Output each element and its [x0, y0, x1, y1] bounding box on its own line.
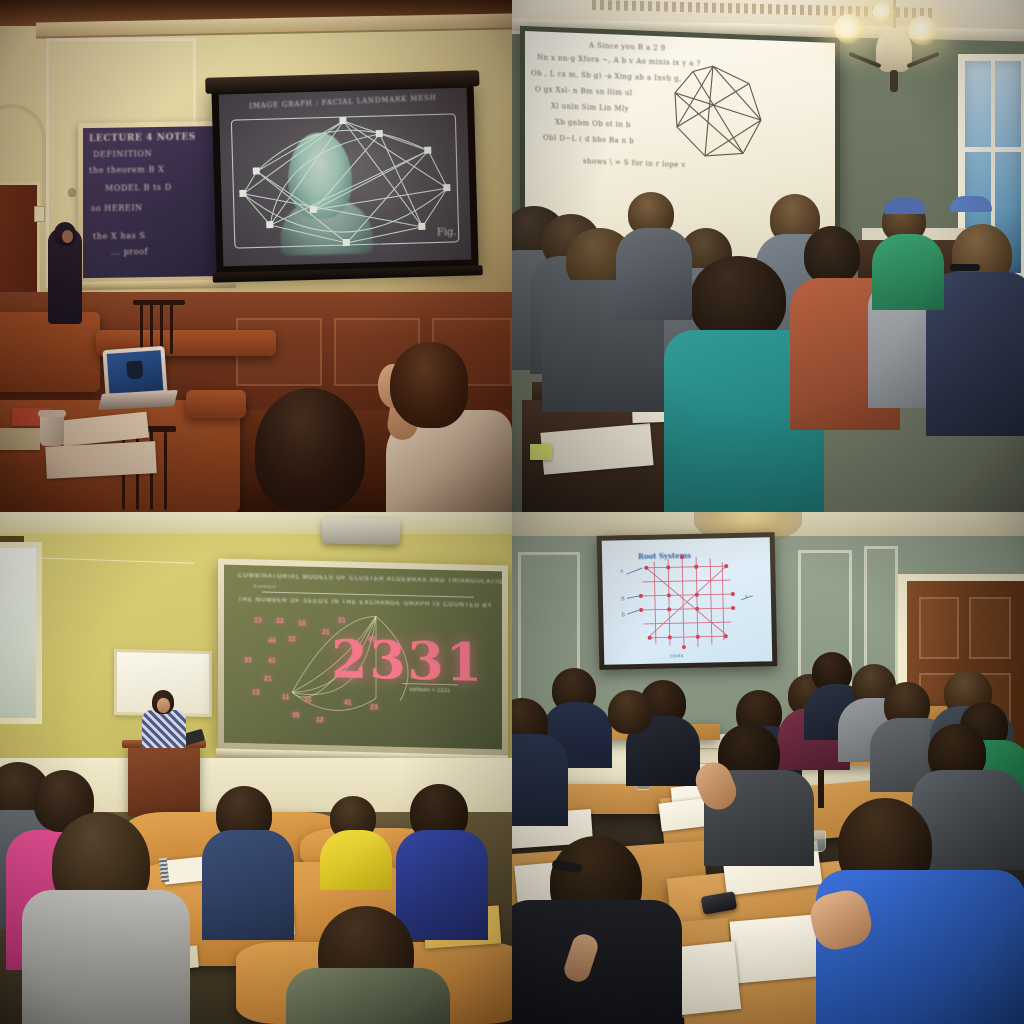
- laptop-screen: [107, 350, 164, 394]
- panel-bottom-left[interactable]: COMBINATORIAL MODELS OF CLUSTER ALGEBRAS…: [0, 512, 512, 1024]
- student-head-center: [255, 388, 365, 512]
- chalk-line-2: the theorem B X: [89, 165, 164, 175]
- node-label: 21: [264, 676, 272, 683]
- node-label: 22: [276, 618, 284, 625]
- projection-screen-assembly[interactable]: IMAGE GRAPH : FACIAL LANDMARK MESH Fig.: [211, 80, 478, 273]
- node-label: 21: [338, 617, 346, 624]
- window: [0, 542, 42, 724]
- node-label: 41: [268, 658, 276, 665]
- table-right: [186, 390, 246, 418]
- presenter-face: [157, 698, 170, 713]
- chalk-line-0: LECTURE 4 NOTES: [89, 132, 196, 144]
- slide-big-number: 2331: [331, 629, 484, 694]
- svg-text:a: a: [620, 568, 623, 574]
- baseball-cap: [884, 198, 926, 214]
- student-head: [608, 690, 652, 734]
- student-head: [804, 226, 860, 284]
- wb-line-2: Ob , L cx m, Sb g) -a Xing ab a Invh g,: [531, 69, 682, 83]
- student-torso-dark: [512, 900, 682, 1024]
- node-label: 10: [298, 620, 306, 627]
- lecturer-face: [62, 230, 73, 243]
- side-door: [0, 182, 40, 302]
- table-back-left: [0, 312, 100, 392]
- node-label: 33: [244, 657, 252, 664]
- polygon-diagram: [665, 58, 785, 173]
- podium: [128, 744, 200, 816]
- eyeglasses-icon: [950, 264, 980, 271]
- chandelier-bulb: [872, 2, 894, 24]
- wb-line-6: Obl D~L ( d bbs Ba n b: [543, 134, 634, 145]
- graph-mesh-overlay: [219, 88, 472, 267]
- svg-text:B: B: [621, 612, 625, 618]
- projection-screen[interactable]: COMBINATORIAL MODELS OF CLUSTER ALGEBRAS…: [224, 565, 502, 750]
- chalk-line-1: DEFINITION: [93, 149, 152, 159]
- projection-screen[interactable]: IMAGE GRAPH : FACIAL LANDMARK MESH Fig.: [219, 88, 472, 267]
- projection-screen-frame: COMBINATORIAL MODELS OF CLUSTER ALGEBRAS…: [218, 558, 508, 755]
- node-label: 41: [344, 700, 352, 707]
- paper-sheet: [45, 441, 157, 479]
- svg-text:roots: roots: [670, 653, 684, 659]
- slide-subcaption: vertices = 2331: [409, 687, 450, 694]
- student-torso: [616, 228, 692, 320]
- screen-frame: IMAGE GRAPH : FACIAL LANDMARK MESH Fig.: [211, 80, 478, 273]
- node-label: 13: [254, 617, 262, 624]
- svg-text:y: y: [744, 594, 748, 600]
- chalk-line-5: the X has S: [93, 231, 146, 241]
- node-label: 35: [292, 712, 300, 719]
- desktop-icon: [126, 361, 143, 380]
- node-label: 22: [288, 636, 296, 643]
- chair-spindle: [164, 432, 167, 510]
- chalk-line-4: so HEREIN: [91, 203, 143, 213]
- node-label: 23: [370, 704, 378, 711]
- node-label: 44: [268, 638, 276, 645]
- wb-line-4: Xl unln Sim Lin Mly: [551, 102, 629, 113]
- student-torso-gray-hoodie: [22, 890, 190, 1024]
- node-label: 12: [252, 689, 260, 696]
- node-label: 11: [282, 694, 289, 701]
- photo-collage-grid: LECTURE 4 NOTES DEFINITION the theorem B…: [0, 0, 1024, 1024]
- root-lattice-diagram: aBB yroots: [602, 537, 773, 664]
- slide-corner-label: Fig.: [437, 227, 457, 239]
- baseball-cap: [950, 196, 992, 212]
- wb-line-3: O gx Xsl- n Bm sn llim ul: [535, 85, 632, 97]
- student-torso-green: [872, 234, 944, 310]
- door-panel: [969, 597, 1011, 659]
- student-torso-navy: [202, 830, 294, 940]
- chandelier-bulb: [908, 16, 938, 46]
- wb-line-5: Xb gnbm Ob st in b: [555, 118, 631, 129]
- chair-spindle: [170, 304, 173, 354]
- chair-back-rail: [133, 300, 185, 305]
- coffee-cup: [40, 414, 64, 446]
- chandelier-finial: [890, 70, 898, 92]
- panel-bottom-right[interactable]: Root Systems: [512, 512, 1024, 1024]
- node-label: 12: [316, 717, 324, 724]
- chalkboard-frame: LECTURE 4 NOTES DEFINITION the theorem B…: [78, 121, 234, 283]
- student-torso-scarf: [286, 968, 450, 1024]
- door-panel: [919, 597, 959, 659]
- presenter-torso: [142, 710, 186, 748]
- sticky-note: [530, 444, 552, 460]
- node-label: 31: [304, 697, 312, 704]
- paper-sheet: [0, 428, 40, 450]
- projection-screen[interactable]: Root Systems: [602, 537, 773, 664]
- ceiling-projector: [322, 517, 400, 544]
- chandelier-bulb: [834, 14, 864, 44]
- light-switch[interactable]: [34, 206, 45, 222]
- student-torso-blue: [396, 830, 488, 940]
- panel-top-right[interactable]: A Since you B a 2 9 Nn x nn-g Xfora ~, A…: [512, 0, 1024, 512]
- student-torso: [512, 734, 568, 826]
- chalk-line-6: ... proof: [111, 247, 148, 257]
- student-torso-yellow: [320, 830, 392, 890]
- projection-screen-frame: Root Systems: [597, 532, 778, 670]
- student-head-right: [390, 342, 468, 428]
- ceiling: [0, 512, 512, 534]
- svg-text:B: B: [621, 596, 625, 602]
- node-label: 21: [322, 629, 330, 636]
- chalk-line-3: MODEL B ts D: [105, 183, 172, 193]
- panel-top-left[interactable]: LECTURE 4 NOTES DEFINITION the theorem B…: [0, 0, 512, 512]
- wb-line-0: A Since you B a 2 9: [589, 42, 666, 53]
- chalkboard[interactable]: LECTURE 4 NOTES DEFINITION the theorem B…: [83, 126, 229, 278]
- wall-knob: [68, 188, 76, 196]
